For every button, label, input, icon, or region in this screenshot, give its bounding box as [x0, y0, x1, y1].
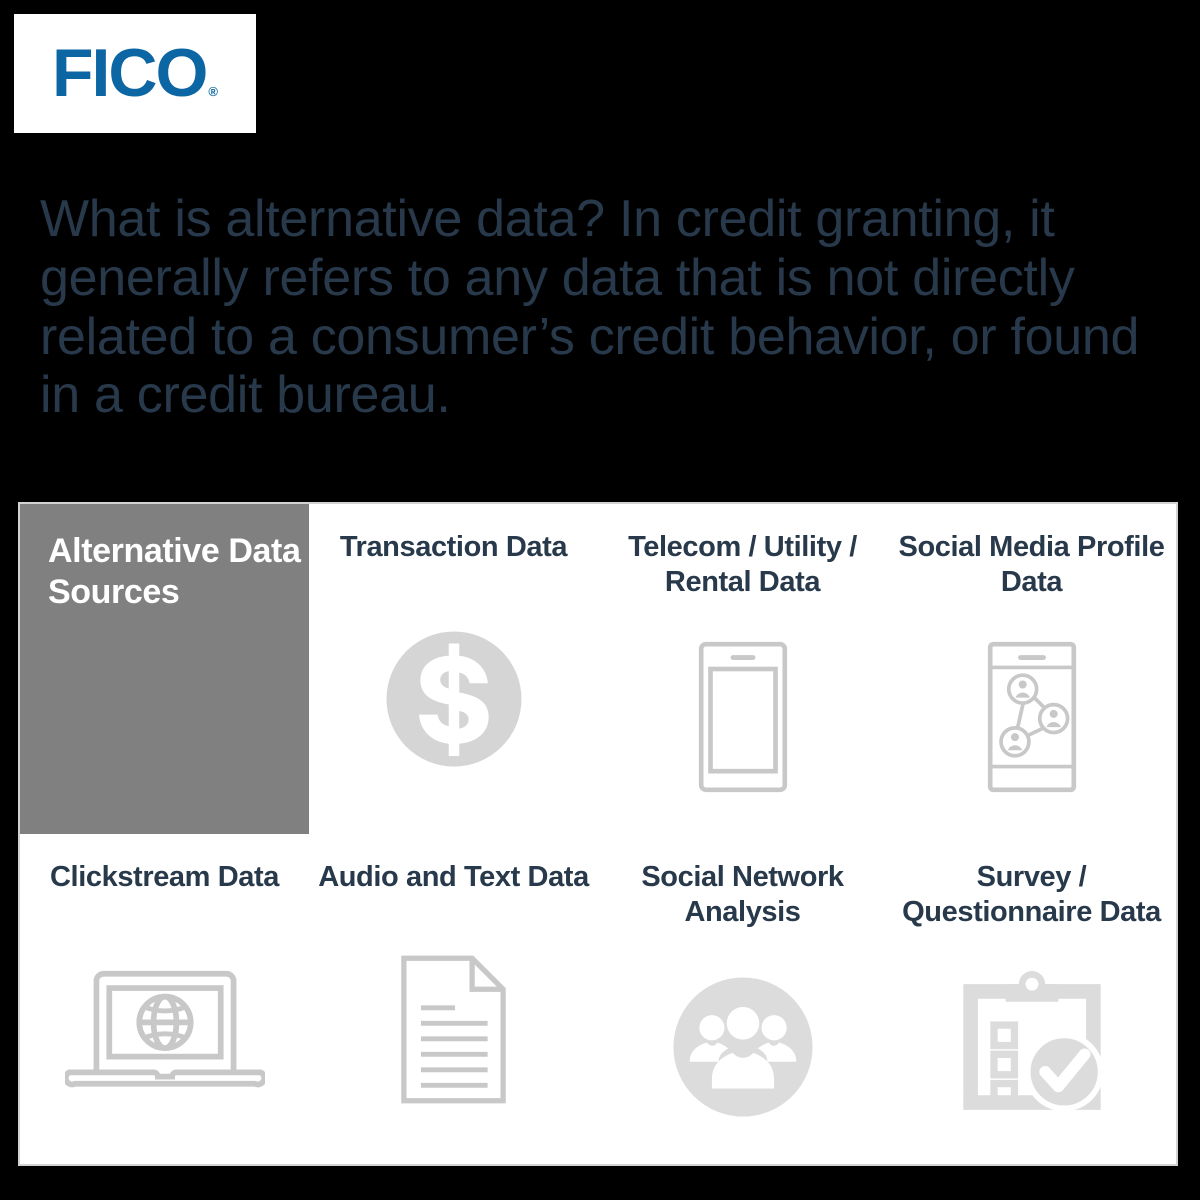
grid-cell-survey-questionnaire-data: Survey / Questionnaire Data [887, 834, 1176, 1164]
clipboard-check-icon [887, 930, 1176, 1164]
logo-wordmark: FICO ® [52, 43, 218, 104]
laptop-globe-icon [20, 895, 309, 1164]
data-sources-grid: Alternative Data Sources Transaction Dat… [20, 504, 1176, 1164]
infographic-page: FICO ® What is alternative data? In cred… [0, 0, 1200, 1200]
cell-label: Social Network Analysis [598, 860, 887, 930]
alternative-data-panel: Alternative Data Sources Transaction Dat… [18, 502, 1178, 1166]
registered-trademark-icon: ® [208, 85, 218, 98]
grid-cell-telecom-utility-rental-data: Telecom / Utility / Rental Data [598, 504, 887, 834]
logo-text: FICO [52, 43, 206, 104]
grid-cell-social-network-analysis: Social Network Analysis [598, 834, 887, 1164]
document-lines-icon [309, 895, 598, 1164]
panel-heading: Alternative Data Sources [20, 504, 309, 614]
cell-label: Transaction Data [334, 530, 573, 565]
phone-social-network-icon [887, 600, 1176, 834]
cell-label: Survey / Questionnaire Data [887, 860, 1176, 930]
cell-label: Telecom / Utility / Rental Data [598, 530, 887, 600]
cell-label: Audio and Text Data [312, 860, 595, 895]
page-title: What is alternative data? In credit gran… [40, 190, 1160, 425]
grid-cell-audio-and-text-data: Audio and Text Data [309, 834, 598, 1164]
cell-label: Social Media Profile Data [887, 530, 1176, 600]
grid-cell-alternative-data-sources: Alternative Data Sources [20, 504, 309, 834]
fico-logo: FICO ® [14, 14, 256, 133]
dollar-coin-icon [309, 565, 598, 834]
grid-cell-social-media-profile-data: Social Media Profile Data [887, 504, 1176, 834]
mobile-phone-icon [598, 600, 887, 834]
people-group-circle-icon [598, 930, 887, 1164]
grid-cell-transaction-data: Transaction Data [309, 504, 598, 834]
cell-label: Clickstream Data [44, 860, 285, 895]
grid-cell-clickstream-data: Clickstream Data [20, 834, 309, 1164]
